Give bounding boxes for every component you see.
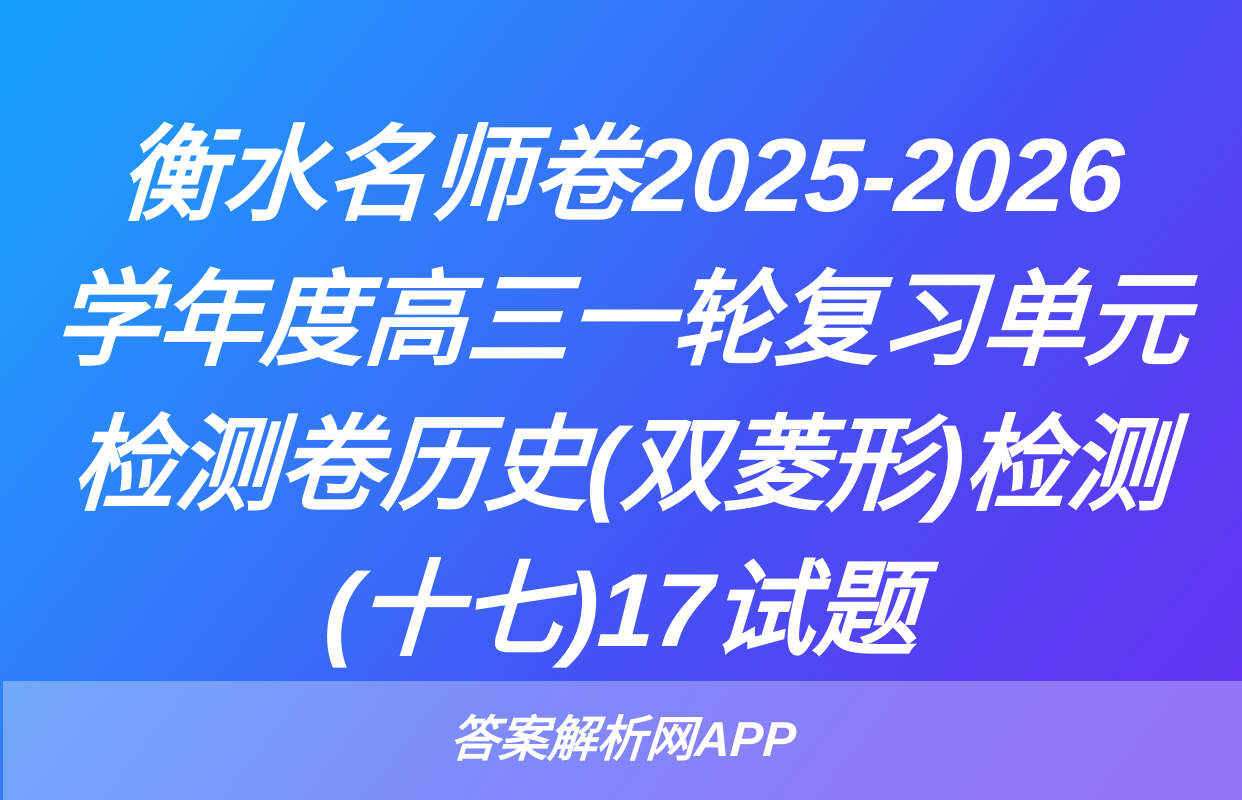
footer-brand-band: 答案解析网APP: [3, 681, 1242, 800]
app-brand-label: 答案解析网APP: [448, 716, 797, 765]
title-line-2: 学年度高三一轮复习单元: [20, 249, 1222, 394]
title-line-4: (十七)17试题: [20, 539, 1222, 684]
title-line-1: 衡水名师卷2025-2026: [20, 104, 1222, 249]
cover-card: 衡水名师卷2025-2026 学年度高三一轮复习单元 检测卷历史(双菱形)检测 …: [0, 0, 1242, 800]
title-line-3: 检测卷历史(双菱形)检测: [20, 394, 1222, 539]
page-title: 衡水名师卷2025-2026 学年度高三一轮复习单元 检测卷历史(双菱形)检测 …: [0, 104, 1242, 684]
